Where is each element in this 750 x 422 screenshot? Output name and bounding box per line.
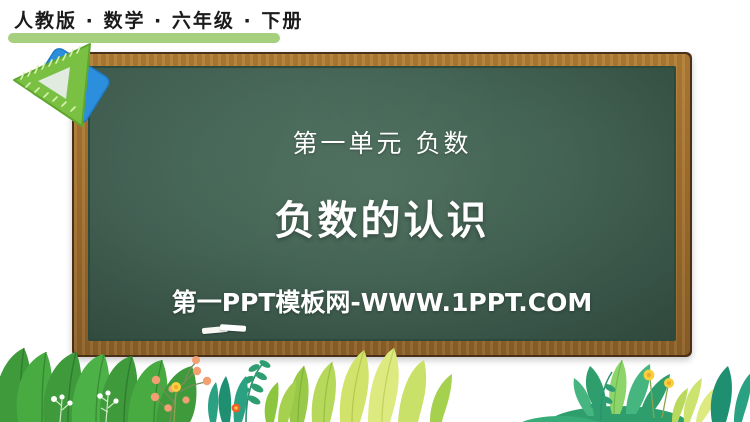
teal-grass-clump (208, 376, 248, 422)
leaf-cluster-right (574, 360, 670, 416)
lime-leaf-cluster (289, 348, 426, 422)
blackboard-surface: 第一单元 负数 负数的认识 第一PPT模板网-WWW.1PPT.COM (90, 68, 674, 339)
header: 人教版 · 数学 · 六年级 · 下册 (0, 0, 290, 44)
ruler-decoration (8, 40, 118, 132)
watermark-text: 第一PPT模板网-WWW.1PPT.COM (90, 283, 674, 319)
header-title: 人教版 · 数学 · 六年级 · 下册 (14, 6, 303, 33)
chalk-icon (202, 325, 246, 333)
foliage-decoration (0, 342, 750, 422)
slide-canvas: 人教版 · 数学 · 六年级 · 下册 第一单元 负数 负数的认识 第一PPT模… (0, 0, 750, 422)
leaf-far-right (711, 366, 750, 422)
red-flower-left (232, 404, 241, 413)
page-title: 负数的认识 (90, 188, 674, 246)
blackboard: 第一单元 负数 负数的认识 第一PPT模板网-WWW.1PPT.COM (72, 52, 692, 357)
unit-label: 第一单元 负数 (90, 124, 674, 160)
